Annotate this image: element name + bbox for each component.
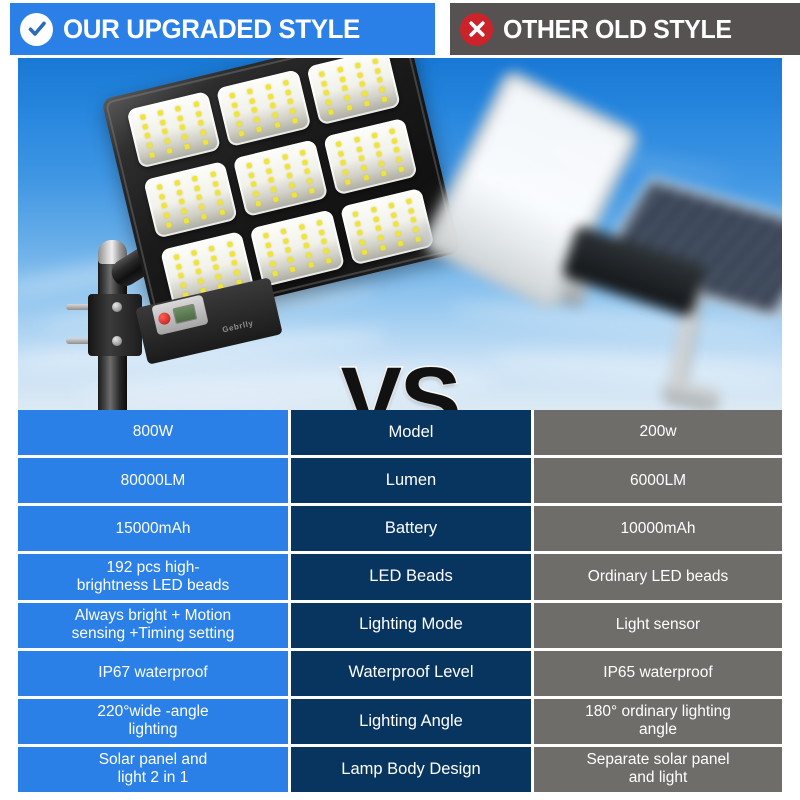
led-module (233, 139, 328, 217)
table-cell-spec: Lighting Mode (291, 603, 531, 648)
table-cell-other: Light sensor (534, 603, 782, 648)
banner-our-style: OUR UPGRADED STYLE (10, 3, 435, 55)
check-circle-icon (20, 13, 53, 46)
table-cell-text: 10000mAh (621, 520, 696, 538)
banner-other-style: OTHER OLD STYLE (450, 3, 800, 55)
table-cell-text: Lamp Body Design (341, 760, 480, 779)
table-cell-spec: Lumen (291, 458, 531, 503)
table-cell-spec: LED Beads (291, 554, 531, 599)
vs-label: VS (341, 354, 460, 410)
table-cell-other: 10000mAh (534, 506, 782, 551)
header-banners: OUR UPGRADED STYLE OTHER OLD STYLE (0, 0, 800, 58)
table-cell-text: Light sensor (616, 616, 700, 634)
lamp-head (101, 58, 460, 325)
table-cell-ours: Solar panel andlight 2 in 1 (18, 747, 288, 792)
table-cell-text: Battery (385, 519, 437, 538)
table-cell-text: 220°wide -anglelighting (97, 703, 208, 740)
table-cell-other: 180° ordinary lightingangle (534, 699, 782, 744)
table-cell-ours: 15000mAh (18, 506, 288, 551)
table-cell-text: Lighting Mode (359, 615, 463, 634)
led-module (143, 161, 238, 239)
table-cell-ours: 220°wide -anglelighting (18, 699, 288, 744)
table-cell-text: 80000LM (121, 472, 186, 490)
table-cell-text: 192 pcs high-brightness LED beads (77, 559, 230, 596)
table-cell-text: Solar panel andlight 2 in 1 (99, 751, 208, 788)
table-cell-text: 15000mAh (116, 520, 191, 538)
table-cell-spec: Model (291, 410, 531, 455)
x-circle-icon (460, 13, 493, 46)
led-module (323, 118, 418, 196)
banner-our-style-label: OUR UPGRADED STYLE (63, 14, 360, 45)
table-cell-text: Always bright + Motionsensing +Timing se… (72, 607, 235, 644)
table-cell-text: Waterproof Level (348, 663, 473, 682)
comparison-table: 800WModel200w80000LMLumen6000LM15000mAhB… (18, 410, 782, 792)
hero-photo: Gebrlly VS (18, 58, 782, 410)
table-cell-text: 6000LM (630, 472, 686, 490)
table-cell-text: IP67 waterproof (98, 664, 207, 682)
banner-other-style-label: OTHER OLD STYLE (503, 14, 732, 45)
power-button-icon (157, 311, 171, 325)
table-cell-text: Model (389, 423, 434, 442)
led-module (306, 58, 401, 126)
table-row: 15000mAhBattery10000mAh (18, 506, 782, 551)
table-cell-spec: Lighting Angle (291, 699, 531, 744)
table-cell-spec: Waterproof Level (291, 651, 531, 696)
table-cell-ours: 192 pcs high-brightness LED beads (18, 554, 288, 599)
table-cell-ours: IP67 waterproof (18, 651, 288, 696)
table-cell-text: 180° ordinary lightingangle (585, 703, 731, 740)
table-row: 80000LMLumen6000LM (18, 458, 782, 503)
table-cell-ours: Always bright + Motionsensing +Timing se… (18, 603, 288, 648)
table-cell-spec: Lamp Body Design (291, 747, 531, 792)
lcd-display (172, 304, 197, 325)
old-lamp-photo (448, 68, 782, 410)
table-cell-other: 6000LM (534, 458, 782, 503)
table-cell-other: Separate solar paneland light (534, 747, 782, 792)
table-cell-other: Ordinary LED beads (534, 554, 782, 599)
table-cell-other: IP65 waterproof (534, 651, 782, 696)
table-cell-text: IP65 waterproof (603, 664, 712, 682)
table-cell-text: Separate solar paneland light (586, 751, 729, 788)
table-cell-other: 200w (534, 410, 782, 455)
table-cell-ours: 80000LM (18, 458, 288, 503)
table-row: Always bright + Motionsensing +Timing se… (18, 603, 782, 648)
table-cell-text: Ordinary LED beads (588, 568, 728, 586)
table-row: 220°wide -anglelightingLighting Angle180… (18, 699, 782, 744)
table-cell-text: Lumen (386, 471, 436, 490)
table-row: 192 pcs high-brightness LED beadsLED Bea… (18, 554, 782, 599)
table-cell-ours: 800W (18, 410, 288, 455)
old-lamp-foot (660, 379, 722, 410)
table-cell-text: LED Beads (369, 567, 452, 586)
table-row: Solar panel andlight 2 in 1Lamp Body Des… (18, 747, 782, 792)
clamp-bolt-head (112, 336, 122, 346)
table-cell-text: Lighting Angle (359, 712, 463, 731)
table-row: 800WModel200w (18, 410, 782, 455)
table-cell-text: 200w (639, 423, 676, 441)
clamp-bolt-head (112, 302, 122, 312)
table-cell-text: 800W (133, 423, 174, 441)
table-cell-spec: Battery (291, 506, 531, 551)
table-row: IP67 waterproofWaterproof LevelIP65 wate… (18, 651, 782, 696)
